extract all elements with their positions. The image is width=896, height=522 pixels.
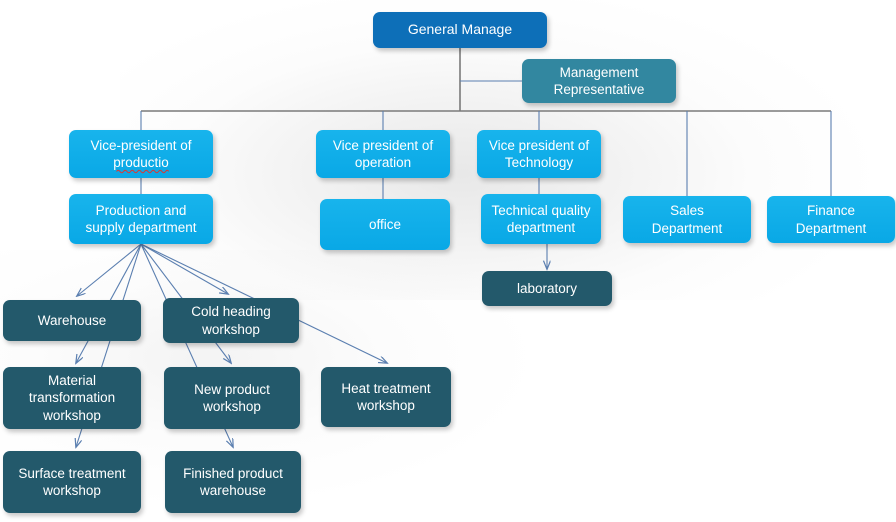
node-material-transformation-workshop-label-line-1: Material (29, 372, 115, 389)
node-surface-treatment-workshop-label-line-2: workshop (18, 482, 125, 499)
node-material-transformation-workshop-label-line-3: workshop (29, 407, 115, 424)
node-cold-heading-workshop-label-line-1: Cold heading (191, 303, 271, 320)
node-warehouse-label: Warehouse (38, 312, 107, 329)
connector-lines (0, 0, 896, 522)
node-finance-department-label-line-2: Department (796, 220, 867, 237)
node-office[interactable]: office (320, 199, 450, 250)
node-new-product-workshop[interactable]: New product workshop (164, 367, 300, 429)
node-finance-department-label-line-1: Finance (796, 202, 867, 219)
node-vice-president-production-label-line-2: productio (90, 154, 191, 171)
node-office-label: office (369, 216, 401, 233)
node-finished-product-warehouse[interactable]: Finished product warehouse (165, 451, 301, 513)
node-technical-quality-dept[interactable]: Technical quality department (481, 194, 601, 244)
node-new-product-workshop-label-line-1: New product (194, 381, 270, 398)
node-cold-heading-workshop-label-line-2: workshop (191, 321, 271, 338)
node-new-product-workshop-label-line-2: workshop (194, 398, 270, 415)
node-technical-quality-dept-label-line-2: department (491, 219, 590, 236)
node-vice-president-technology[interactable]: Vice president of Technology (477, 130, 601, 178)
node-technical-quality-dept-label-line-1: Technical quality (491, 202, 590, 219)
node-surface-treatment-workshop-label-line-1: Surface treatment (18, 465, 125, 482)
node-warehouse[interactable]: Warehouse (3, 300, 141, 341)
node-surface-treatment-workshop[interactable]: Surface treatment workshop (3, 451, 141, 513)
node-material-transformation-workshop-label-line-2: transformation (29, 389, 115, 406)
node-general-manager[interactable]: General Manage (373, 12, 547, 48)
node-sales-department[interactable]: Sales Department (623, 196, 751, 243)
node-finished-product-warehouse-label-line-2: warehouse (183, 482, 283, 499)
node-management-representative-label-line-1: Management (554, 64, 645, 81)
edge-production-supply-dept-to-cold-heading-workshop (141, 244, 228, 294)
node-sales-department-label-line-1: Sales (652, 202, 723, 219)
node-management-representative[interactable]: Management Representative (522, 59, 676, 103)
node-heat-treatment-workshop-label-line-2: workshop (341, 397, 430, 414)
node-cold-heading-workshop[interactable]: Cold heading workshop (163, 298, 299, 343)
node-vice-president-production[interactable]: Vice-president of productio (69, 130, 213, 178)
node-production-supply-dept-label-line-2: supply department (85, 219, 196, 236)
node-production-supply-dept-label-line-1: Production and (85, 202, 196, 219)
node-laboratory[interactable]: laboratory (482, 271, 612, 306)
node-vice-president-technology-label-line-2: Technology (489, 154, 589, 171)
node-heat-treatment-workshop[interactable]: Heat treatment workshop (321, 367, 451, 427)
node-finance-department[interactable]: Finance Department (767, 196, 895, 243)
node-vice-president-technology-label-line-1: Vice president of (489, 137, 589, 154)
node-general-manager-label: General Manage (408, 21, 512, 39)
node-laboratory-label: laboratory (517, 280, 577, 297)
node-heat-treatment-workshop-label-line-1: Heat treatment (341, 380, 430, 397)
node-vice-president-production-label-line-1: Vice-president of (90, 137, 191, 154)
node-finished-product-warehouse-label-line-1: Finished product (183, 465, 283, 482)
node-sales-department-label-line-2: Department (652, 220, 723, 237)
node-management-representative-label-line-2: Representative (554, 81, 645, 98)
node-vice-president-operation-label-line-2: operation (333, 154, 433, 171)
node-vice-president-operation[interactable]: Vice president of operation (316, 130, 450, 178)
org-chart-canvas: General Manage Management Representative… (0, 0, 896, 522)
edge-production-supply-dept-to-warehouse (77, 244, 141, 296)
node-material-transformation-workshop[interactable]: Material transformation workshop (3, 367, 141, 429)
node-vice-president-operation-label-line-1: Vice president of (333, 137, 433, 154)
node-production-supply-dept[interactable]: Production and supply department (69, 194, 213, 244)
